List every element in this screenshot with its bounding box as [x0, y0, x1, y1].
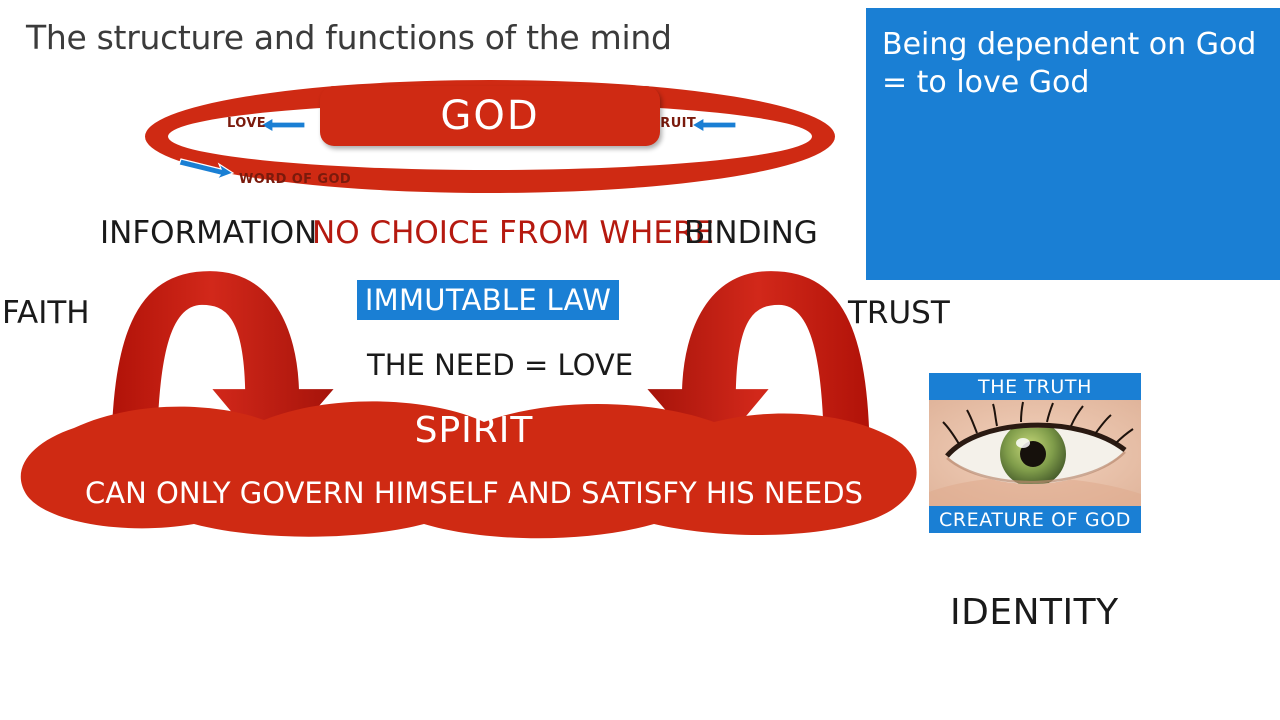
label-identity: IDENTITY [950, 592, 1119, 633]
label-binding: BINDING [684, 215, 818, 251]
label-faith: FAITH [2, 295, 90, 331]
page-title: The structure and functions of the mind [26, 18, 672, 57]
right-inward-arrow-icon [692, 116, 738, 139]
spirit-cloud: SPIRIT CAN ONLY GOVERN HIMSELF AND SATIS… [14, 398, 934, 544]
slide-canvas: The structure and functions of the mind … [0, 0, 1280, 720]
ring-word-word-of-god: WORD OF GOD [239, 172, 351, 187]
god-ring-group: LOVE FRUIT WORD OF GOD GOD [145, 80, 835, 200]
callout-box-text: Being dependent on God = to love God [882, 26, 1264, 103]
identity-card: THE TRUTH [929, 373, 1141, 533]
god-label: GOD [320, 93, 660, 139]
word-of-god-arrow-icon [177, 158, 235, 185]
human-eye-photo [929, 400, 1141, 506]
label-immutable-law: IMMUTABLE LAW [357, 280, 619, 320]
left-arrow-icon [261, 116, 307, 139]
god-pill: GOD [320, 86, 660, 146]
label-the-need-equals-love: THE NEED = LOVE [367, 348, 633, 382]
label-information: INFORMATION [100, 215, 317, 251]
spirit-label: SPIRIT [14, 410, 934, 451]
spirit-subtitle: CAN ONLY GOVERN HIMSELF AND SATISFY HIS … [14, 476, 934, 510]
card-caption-bottom: CREATURE OF GOD [929, 506, 1141, 533]
card-caption-top: THE TRUTH [929, 373, 1141, 400]
ring-word-love: LOVE [227, 116, 266, 131]
label-no-choice-from-where: NO CHOICE FROM WHERE [312, 215, 714, 251]
